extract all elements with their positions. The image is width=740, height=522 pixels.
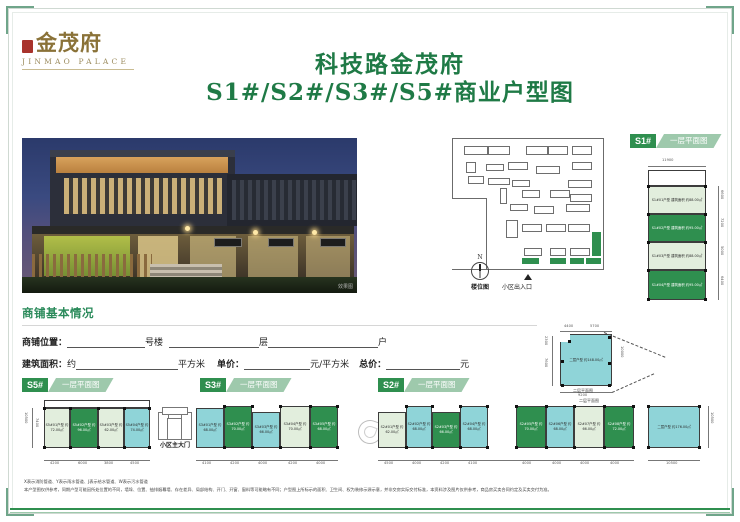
plan-unit-label: S2#01户型 约62.00㎡ bbox=[379, 425, 405, 434]
site-block bbox=[572, 162, 592, 170]
price-label: 单价： bbox=[217, 357, 244, 370]
floor-plan-s1: 11900 S1#01户型 建筑面积 约88.00㎡ S1#02户型 建筑面积 … bbox=[628, 158, 736, 308]
plan-unit-label: S3#04户型 约70.00㎡ bbox=[281, 422, 309, 431]
plan-unit-s1-04[interactable]: S1#04户型 建筑面积 约95.00㎡ bbox=[648, 270, 706, 300]
plan-unit-s3-05[interactable]: S3#05户型 约68.00㎡ bbox=[310, 406, 338, 448]
dim-sf-left-2: 7600 bbox=[544, 358, 548, 367]
plan-unit-s2-03[interactable]: S2#03户型 约66.00㎡ bbox=[432, 412, 460, 448]
site-block bbox=[526, 146, 548, 155]
plan-unit-s3-04[interactable]: S3#04户型 约70.00㎡ bbox=[280, 406, 310, 448]
brand-logo: 金茂府 JINMAO PALACE bbox=[22, 32, 142, 70]
site-block bbox=[464, 146, 488, 155]
dim-bottom-s2-6: 4000 bbox=[552, 461, 561, 465]
plan-unit-label: S2#07户型 约66.00㎡ bbox=[575, 422, 603, 431]
plan-unit-label: S2#03户型 约66.00㎡ bbox=[433, 425, 459, 434]
plan-unit-s1-01[interactable]: S1#01户型 建筑面积 约88.00㎡ bbox=[648, 186, 706, 214]
location-building-input[interactable] bbox=[67, 337, 145, 348]
site-block bbox=[466, 162, 476, 173]
photo-lamp-3 bbox=[312, 230, 317, 235]
badge-number-s3: S3# bbox=[200, 378, 226, 392]
logo-divider bbox=[22, 69, 134, 70]
dim-bottom-s3-2: 4200 bbox=[230, 461, 239, 465]
footer-line-2: 本产型图仅供参考，同期户型可能因所处位置的不同，墙垛、位置、抽排烟幕墙、存在差异… bbox=[24, 486, 718, 494]
plan-unit-label: S2#08户型 约72.00㎡ bbox=[605, 422, 633, 431]
dim-bottom-s2-3: 4200 bbox=[440, 461, 449, 465]
plan-unit-label: S5#01户型 约72.00㎡ bbox=[45, 423, 69, 432]
plan-unit-s2-08[interactable]: S2#08户型 约72.00㎡ bbox=[604, 406, 634, 448]
plan-unit-s2-07[interactable]: S2#07户型 约66.00㎡ bbox=[574, 406, 604, 448]
plan-unit-label: S5#02户型 约96.00㎡ bbox=[71, 423, 97, 432]
plan-unit-s3-02[interactable]: S3#02户型 约70.00㎡ bbox=[224, 406, 252, 448]
dim-left-s5-2: 7400 bbox=[35, 418, 39, 427]
second-floor-caption-mid: 二层平面图 bbox=[560, 388, 606, 394]
footer-line-1: X表示消防管道、Y表示雨水管道、J表示给水管道、W表示污水管道 bbox=[24, 478, 718, 486]
site-block bbox=[568, 180, 592, 188]
photo-shop-sign-2 bbox=[268, 238, 294, 247]
compass: N 楼位图 bbox=[458, 254, 502, 291]
logo-english-name: JINMAO PALACE bbox=[22, 57, 142, 66]
footer-disclaimer: X表示消防管道、Y表示雨水管道、J表示给水管道、W表示污水管道 本产型图仅供参考… bbox=[24, 478, 718, 494]
dim-bottom-s5-4: 4500 bbox=[130, 461, 139, 465]
dim-bottom-s2-5: 4000 bbox=[522, 461, 531, 465]
section-badge-s5: S5# 一层平面图 bbox=[22, 378, 114, 392]
dim-bottom-s2-4: 4100 bbox=[468, 461, 477, 465]
main-gate-label: 小区主大门 bbox=[152, 440, 198, 449]
plan-unit-label: S3#02户型 约70.00㎡ bbox=[225, 422, 251, 431]
footer-rule-secondary bbox=[10, 512, 730, 513]
badge-title-s5: 一层平面图 bbox=[48, 378, 114, 392]
dim-sf-right: 10000 bbox=[620, 346, 624, 357]
total-input[interactable] bbox=[386, 359, 460, 370]
corner-ornament-tr bbox=[706, 6, 734, 34]
footer-rule-primary bbox=[10, 508, 730, 510]
plan-unit-core-s1 bbox=[648, 170, 706, 186]
site-block bbox=[512, 180, 530, 187]
plan-unit-second-right[interactable]: 二层户型 约176.00㎡ bbox=[648, 406, 700, 448]
dim-line-top-s1 bbox=[648, 166, 706, 167]
info-row-location: 商铺位置： 号楼 层 户 bbox=[22, 335, 537, 348]
dim-bottom-s3-4: 4200 bbox=[288, 461, 297, 465]
site-plan: N 楼位图 小区出入口 bbox=[440, 136, 620, 296]
dim-left-s5-1: 10500 bbox=[24, 412, 28, 423]
info-divider bbox=[22, 325, 537, 326]
plan-unit-label: S3#03户型 约66.00㎡ bbox=[253, 425, 279, 434]
total-label: 总价： bbox=[359, 357, 386, 370]
badge-title-s1: 一层平面图 bbox=[656, 134, 722, 148]
plan-unit-label: S2#04户型 约68.00㎡ bbox=[461, 422, 487, 431]
dim-sf-top-1: 4400 bbox=[564, 324, 573, 328]
site-block bbox=[534, 206, 554, 214]
dim-right-s1-4: 6400 bbox=[720, 276, 724, 285]
plan-unit-s3-01[interactable]: S3#01户型 约68.00㎡ bbox=[196, 408, 224, 448]
site-block bbox=[570, 194, 592, 202]
floor-plan-second-right: 二层户型 约176.00㎡ 10500 10500 bbox=[648, 398, 728, 470]
red-seal-icon bbox=[22, 40, 33, 53]
site-block bbox=[524, 248, 542, 256]
site-block bbox=[508, 162, 528, 170]
dim-bottom-s5-2: 6000 bbox=[78, 461, 87, 465]
site-block bbox=[548, 146, 568, 155]
shop-basic-info: 商铺基本情况 商铺位置： 号楼 层 户 建筑面积： 约 平方米 单价： 元/平方… bbox=[22, 305, 537, 370]
plan-unit-label: S2#06户型 约68.00㎡ bbox=[547, 422, 573, 431]
photo-wood-soffit bbox=[56, 157, 228, 173]
site-highlight-s2a[interactable] bbox=[570, 258, 584, 264]
logo-chinese-name: 金茂府 bbox=[36, 32, 102, 53]
photo-upper-glazing bbox=[64, 178, 222, 214]
main-gate-illustration: 小区主大门 bbox=[152, 404, 194, 448]
plan-unit-s3-03[interactable]: S3#03户型 约66.00㎡ bbox=[252, 412, 280, 448]
dim-top-s1: 11900 bbox=[662, 158, 673, 162]
site-highlight-s3[interactable] bbox=[550, 258, 566, 264]
badge-number-s1: S1# bbox=[630, 134, 656, 148]
info-heading: 商铺基本情况 bbox=[22, 305, 537, 321]
plan-unit-s2-05[interactable]: S2#05户型 约70.00㎡ bbox=[516, 406, 546, 448]
area-approx: 约 bbox=[67, 357, 76, 370]
dim-bottom-s3-1: 4100 bbox=[202, 461, 211, 465]
dim-bottom-second: 10500 bbox=[666, 461, 677, 465]
photo-right-grid bbox=[232, 180, 356, 220]
dim-right-second: 10500 bbox=[710, 412, 714, 423]
area-label: 建筑面积： bbox=[22, 357, 67, 370]
title-line-2: S1#/S2#/S3#/S5#商业户型图 bbox=[180, 78, 600, 108]
dim-bottom-s5-1: 4200 bbox=[50, 461, 59, 465]
site-block bbox=[486, 164, 504, 171]
dim-bottom-s2-7: 4000 bbox=[580, 461, 589, 465]
entrance-label: 小区出入口 bbox=[502, 282, 532, 291]
photo-shop-sign-3 bbox=[320, 238, 346, 247]
site-highlight-s1b[interactable] bbox=[592, 258, 601, 264]
unit-area: 平方米 bbox=[178, 357, 205, 370]
dim-right-s1-1: 6600 bbox=[720, 190, 724, 199]
second-floor-caption-left: 二层平面图 bbox=[566, 398, 612, 404]
badge-number-s2: S2# bbox=[378, 378, 404, 392]
plan-unit-s2-06[interactable]: S2#06户型 约68.00㎡ bbox=[546, 406, 574, 448]
dim-line-right-s1 bbox=[718, 186, 719, 300]
dim-bottom-s5-3: 3800 bbox=[104, 461, 113, 465]
info-row-area-price: 建筑面积： 约 平方米 单价： 元/平方米 总价： 元 bbox=[22, 357, 537, 370]
site-block bbox=[488, 178, 510, 185]
site-block bbox=[568, 224, 590, 232]
compass-needle-icon bbox=[479, 264, 481, 278]
dim-right-s1-2: 7200 bbox=[720, 218, 724, 227]
location-floor-input[interactable] bbox=[169, 337, 259, 348]
photo-shop-sign-1 bbox=[214, 238, 242, 247]
site-block bbox=[500, 188, 507, 204]
floor-plan-s3: S3#01户型 约68.00㎡ S3#02户型 约70.00㎡ S3#03户型 … bbox=[196, 398, 361, 470]
site-block bbox=[468, 176, 484, 184]
plan-unit-label: S1#01户型 建筑面积 约88.00㎡ bbox=[652, 198, 702, 203]
photo-wood-fence bbox=[32, 254, 152, 278]
plan-unit-label: S1#02户型 建筑面积 约95.00㎡ bbox=[652, 226, 702, 231]
plan-unit-label: S3#01户型 约68.00㎡ bbox=[197, 423, 223, 432]
plan-unit-label: S2#05户型 约70.00㎡ bbox=[517, 422, 545, 431]
location-label: 商铺位置： bbox=[22, 335, 67, 348]
dim-sf-left-1: 2300 bbox=[544, 336, 548, 345]
entrance-marker-icon bbox=[524, 274, 532, 280]
building-photo: 效果图 bbox=[22, 138, 357, 293]
section-badge-s1: S1# 一层平面图 bbox=[630, 134, 722, 148]
plan-unit-s5-04[interactable]: S5#04户型 约74.00㎡ bbox=[124, 408, 150, 448]
plan-unit-label: S5#03户型 约62.00㎡ bbox=[99, 423, 123, 432]
site-block bbox=[550, 190, 570, 198]
plan-unit-label: 二层户型 约176.00㎡ bbox=[657, 425, 690, 430]
plan-unit-s2-04[interactable]: S2#04户型 约68.00㎡ bbox=[460, 406, 488, 448]
brochure-page: 金茂府 JINMAO PALACE 科技路金茂府 S1#/S2#/S3#/S5#… bbox=[0, 0, 740, 522]
site-block bbox=[572, 146, 592, 155]
compass-north-label: N bbox=[458, 254, 502, 261]
badge-number-s5: S5# bbox=[22, 378, 48, 392]
area-input[interactable] bbox=[76, 359, 178, 370]
site-block bbox=[522, 224, 542, 232]
section-badge-s2: S2# 一层平面图 bbox=[378, 378, 470, 392]
badge-title-s2: 一层平面图 bbox=[404, 378, 470, 392]
plan-unit-label: S2#02户型 约68.00㎡ bbox=[407, 422, 431, 431]
plan-unit-s2-02[interactable]: S2#02户型 约68.00㎡ bbox=[406, 406, 432, 448]
dim-sf-top-2: 5700 bbox=[590, 324, 599, 328]
site-block bbox=[522, 190, 540, 198]
plan-unit-label: 二层户型 约148.00㎡ bbox=[569, 358, 602, 363]
photo-hedge bbox=[22, 277, 357, 293]
dim-bottom-s3-3: 4000 bbox=[258, 461, 267, 465]
compass-icon bbox=[471, 262, 489, 280]
site-block bbox=[488, 146, 510, 155]
section-badge-s3: S3# 一层平面图 bbox=[200, 378, 292, 392]
site-block bbox=[546, 224, 566, 232]
plan-unit-label: S5#04户型 约74.00㎡ bbox=[125, 423, 149, 432]
plan-unit-label: S1#04户型 建筑面积 约95.00㎡ bbox=[652, 283, 702, 288]
plan-unit-label: S3#05户型 约68.00㎡ bbox=[311, 422, 337, 431]
photo-caption: 效果图 bbox=[338, 283, 353, 290]
dim-bottom-s3-5: 4000 bbox=[316, 461, 325, 465]
location-household-input[interactable] bbox=[268, 337, 378, 348]
plan-unit-s5-03[interactable]: S5#03户型 约62.00㎡ bbox=[98, 408, 124, 448]
price-input[interactable] bbox=[244, 359, 310, 370]
site-block bbox=[550, 248, 566, 256]
plan-unit-s5-02[interactable]: S5#02户型 约96.00㎡ bbox=[70, 408, 98, 448]
photo-lamp-1 bbox=[185, 226, 190, 231]
site-block bbox=[506, 220, 518, 238]
site-block bbox=[566, 204, 590, 212]
unit-floor: 层 bbox=[259, 335, 268, 348]
page-title: 科技路金茂府 S1#/S2#/S3#/S5#商业户型图 bbox=[180, 52, 600, 108]
plan-unit-s2-01[interactable]: S2#01户型 约62.00㎡ bbox=[378, 412, 406, 448]
logo-mark: 金茂府 bbox=[22, 32, 142, 53]
plan-unit-s1-03[interactable]: S1#03户型 建筑面积 约88.00㎡ bbox=[648, 242, 706, 270]
photo-canopy bbox=[32, 226, 354, 234]
site-highlight-s1[interactable] bbox=[592, 232, 601, 256]
dim-bottom-s2-2: 4000 bbox=[412, 461, 421, 465]
site-block bbox=[536, 166, 560, 174]
photo-lamp-2 bbox=[253, 230, 258, 235]
plan-unit-s1-02[interactable]: S1#02户型 建筑面积 约95.00㎡ bbox=[648, 214, 706, 242]
dim-bottom-s2-8: 4000 bbox=[610, 461, 619, 465]
unit-building: 号楼 bbox=[145, 335, 163, 348]
dim-right-s1-3: 5000 bbox=[720, 246, 724, 255]
unit-household: 户 bbox=[378, 335, 387, 348]
plan-unit-label: S1#03户型 建筑面积 约88.00㎡ bbox=[652, 254, 702, 259]
compass-caption: 楼位图 bbox=[458, 282, 502, 291]
corner-ornament-tl bbox=[6, 6, 34, 34]
unit-price: 元/平方米 bbox=[310, 357, 349, 370]
unit-total: 元 bbox=[460, 357, 469, 370]
site-block bbox=[570, 248, 590, 256]
plan-unit-s5-01[interactable]: S5#01户型 约72.00㎡ bbox=[44, 408, 70, 448]
site-block bbox=[510, 204, 528, 211]
title-line-1: 科技路金茂府 bbox=[180, 52, 600, 78]
site-highlight-s5[interactable] bbox=[522, 258, 539, 264]
dim-bottom-s2-1: 4500 bbox=[384, 461, 393, 465]
badge-title-s3: 一层平面图 bbox=[226, 378, 292, 392]
